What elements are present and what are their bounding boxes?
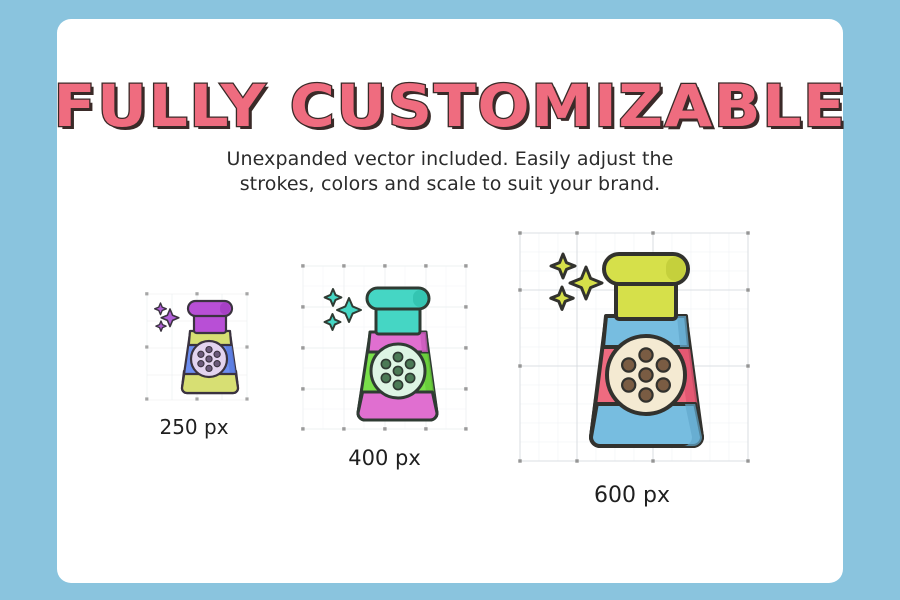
size-label-250: 250 px	[139, 415, 249, 439]
poster-stage: FULLY CUSTOMIZABLE Unexpanded vector inc…	[0, 0, 900, 600]
showcase-item-600[interactable]: 600 px	[512, 225, 752, 473]
sparkle-group-large	[551, 254, 602, 309]
artboard-250[interactable]	[142, 289, 252, 404]
sparkle-group-medium	[325, 289, 362, 330]
white-card: FULLY CUSTOMIZABLE Unexpanded vector inc…	[57, 19, 843, 583]
spice-jar-icon-large[interactable]	[538, 241, 728, 457]
showcase-item-250[interactable]: 250 px	[142, 289, 252, 404]
artboard-600[interactable]	[512, 225, 752, 473]
showcase-item-400[interactable]: 400 px	[297, 260, 472, 435]
size-label-600: 600 px	[512, 483, 752, 508]
size-label-400: 400 px	[297, 446, 472, 470]
sparkle-group-small	[155, 303, 179, 331]
spice-jar-icon-medium[interactable]	[315, 280, 457, 428]
spice-jar-icon-small[interactable]	[150, 295, 246, 399]
artboard-400[interactable]	[297, 260, 472, 435]
icon-showcase-row: 250 px	[57, 19, 843, 583]
